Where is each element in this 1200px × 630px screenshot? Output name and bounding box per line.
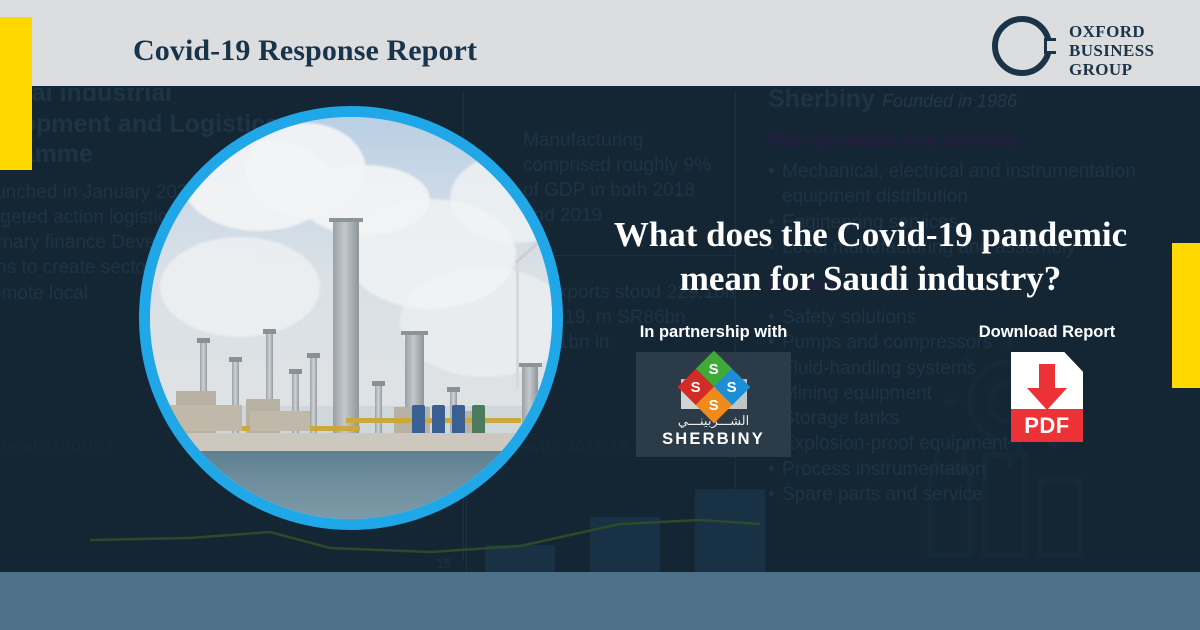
download-report-label: Download Report (962, 323, 1132, 342)
hero-headline: What does the Covid-19 pandemic mean for… (583, 213, 1158, 301)
pdf-download-icon[interactable]: PDF (1011, 352, 1083, 442)
sherbiny-logo[interactable]: S S S S الشـــربينـــي SHERBINY (636, 352, 791, 457)
sherbiny-english-name: SHERBINY (662, 430, 765, 449)
partnership-label: In partnership with (636, 323, 791, 342)
download-arrow-icon (1039, 364, 1055, 390)
foreground-overlay: What does the Covid-19 pandemic mean for… (0, 0, 1200, 630)
pdf-label-text: PDF (1011, 413, 1083, 439)
poster-canvas: National Industrial Development and Logi… (0, 0, 1200, 630)
sherbiny-mark-icon: S S S S (677, 357, 751, 409)
download-arrow-head-icon (1027, 388, 1067, 410)
pdf-label-band: PDF (1011, 409, 1083, 442)
